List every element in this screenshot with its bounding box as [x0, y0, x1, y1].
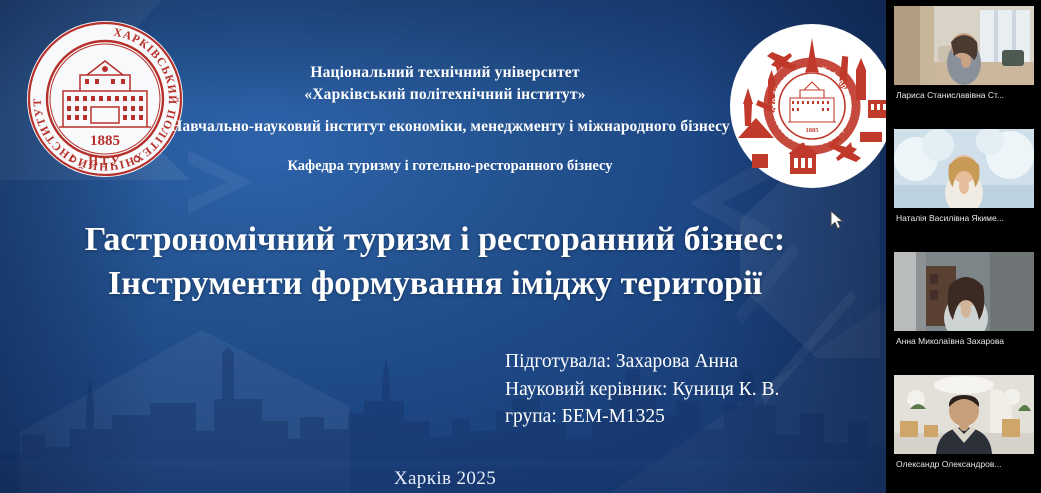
participant-video-1[interactable] [894, 6, 1034, 85]
author-supervisor: Науковий керівник: Куниця К. В. [505, 376, 865, 404]
author-prepared-by: Підготувала: Захарова Анна [505, 348, 865, 376]
university-name-line2: «Харківський політехнічний інститут» [195, 84, 695, 106]
presentation-slide[interactable]: ХАРКІВСЬКИЙ ПОЛІТЕХНІЧНИЙ ІНСТИТУТ [0, 0, 886, 493]
participant-tile-2[interactable]: Наталія Василівна Якиме... [886, 123, 1041, 246]
participants-video-panel[interactable]: Лариса Станиславівна Ст... Наталія Васил… [886, 0, 1041, 493]
svg-text:1885: 1885 [806, 127, 820, 134]
svg-text:НТУ: НТУ [88, 154, 121, 168]
slide-title-line1: Гастрономічний туризм і ресторанний бізн… [45, 218, 825, 262]
mouse-cursor-icon [830, 210, 844, 230]
svg-text:1885: 1885 [90, 133, 120, 149]
participant-tile-3[interactable]: Анна Миколаївна Захарова [886, 246, 1041, 369]
participant-name-3: Анна Миколаївна Захарова [896, 336, 1032, 346]
institute-name: Навчально-науковий інститут економіки, м… [150, 118, 750, 136]
participant-tile-1[interactable]: Лариса Станиславівна Ст... [886, 0, 1041, 123]
department-name: Кафедра туризму і готельно-ресторанного … [170, 158, 730, 175]
participant-name-4: Олександр Олександров... [896, 459, 1032, 469]
participant-tile-4[interactable]: Олександр Олександров... [886, 369, 1041, 492]
author-group: група: БЕМ-М1325 [505, 403, 865, 431]
screen-share-meeting-window: ХАРКІВСЬКИЙ ПОЛІТЕХНІЧНИЙ ІНСТИТУТ [0, 0, 1041, 493]
participant-video-3[interactable] [894, 252, 1034, 331]
participant-name-2: Наталія Василівна Якиме... [896, 213, 1032, 223]
participant-name-1: Лариса Станиславівна Ст... [896, 90, 1032, 100]
university-name: Національний технічний університет «Харк… [195, 62, 695, 107]
participant-video-2[interactable] [894, 129, 1034, 208]
khpi-seal-logo: ХАРКІВСЬКИЙ ПОЛІТЕХНІЧНИЙ ІНСТИТУТ [25, 18, 185, 180]
slide-footer-city-year: Харків 2025 [300, 468, 590, 490]
tourism-department-logo: Кафедра туризму і готельно-ресторанного … [728, 22, 886, 190]
participant-video-4[interactable] [894, 375, 1034, 454]
slide-title-line2: Інструменти формування іміджу території [45, 262, 825, 306]
university-name-line1: Національний технічний університет [195, 62, 695, 84]
author-block: Підготувала: Захарова Анна Науковий кері… [505, 348, 865, 431]
slide-title: Гастрономічний туризм і ресторанний бізн… [45, 218, 825, 305]
